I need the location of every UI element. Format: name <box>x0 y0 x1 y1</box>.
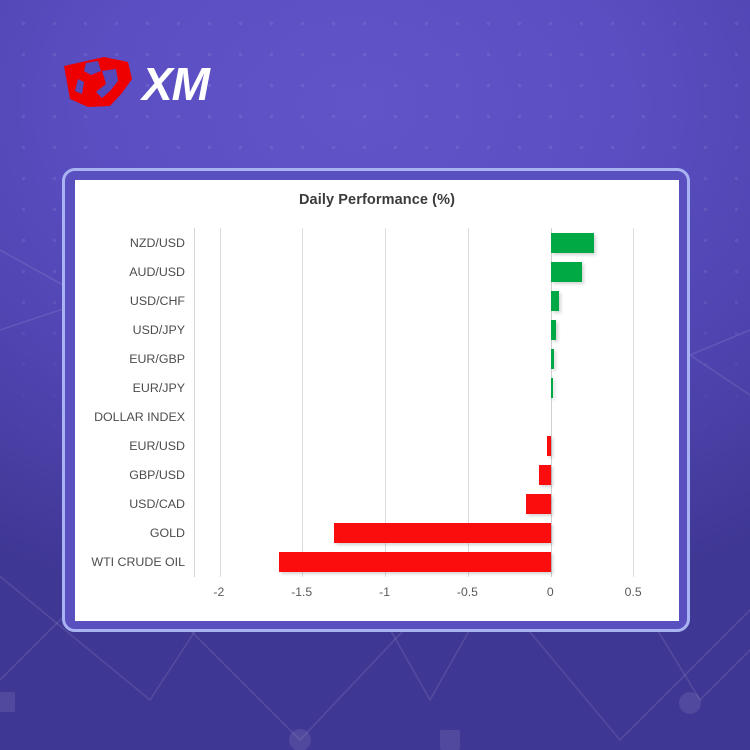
bar-row <box>195 548 663 577</box>
chart-title: Daily Performance (%) <box>75 192 679 208</box>
bar-usd-jpy <box>551 320 556 340</box>
value-axis: -2-1.5-1-0.500.5 <box>194 579 663 613</box>
bar-row <box>195 344 663 373</box>
bar-eur-jpy <box>551 378 553 398</box>
category-label: EUR/JPY <box>75 373 194 402</box>
bar-series <box>195 228 663 577</box>
value-tick-label: 0 <box>547 585 554 599</box>
bar-nzd-usd <box>551 233 594 253</box>
bar-gold <box>334 523 551 543</box>
bar-row <box>195 286 663 315</box>
value-tick-label: -1.5 <box>291 585 312 599</box>
bar-row <box>195 490 663 519</box>
bar-eur-gbp <box>551 349 554 369</box>
bar-row <box>195 257 663 286</box>
chart-surface: Daily Performance (%) NZD/USDAUD/USDUSD/… <box>75 180 679 621</box>
xm-logo: XM <box>58 49 248 115</box>
value-tick-label: 0.5 <box>625 585 642 599</box>
plot-area <box>194 228 663 577</box>
bar-gbp-usd <box>539 465 551 485</box>
category-label: USD/CHF <box>75 286 194 315</box>
category-label: USD/JPY <box>75 315 194 344</box>
category-label: AUD/USD <box>75 257 194 286</box>
chart-card: Daily Performance (%) NZD/USDAUD/USDUSD/… <box>62 168 690 632</box>
bar-row <box>195 432 663 461</box>
bar-aud-usd <box>551 262 582 282</box>
category-label: NZD/USD <box>75 228 194 257</box>
bar-usd-chf <box>551 291 559 311</box>
bar-row <box>195 228 663 257</box>
bar-row <box>195 461 663 490</box>
bar-row <box>195 402 663 431</box>
category-label: WTI CRUDE OIL <box>75 548 194 577</box>
category-label: EUR/GBP <box>75 344 194 373</box>
xm-logo-wordmark: XM <box>139 58 212 110</box>
category-label: GOLD <box>75 519 194 548</box>
bar-eur-usd <box>547 436 550 456</box>
value-tick-label: -2 <box>213 585 224 599</box>
category-axis: NZD/USDAUD/USDUSD/CHFUSD/JPYEUR/GBPEUR/J… <box>75 228 194 577</box>
bar-row <box>195 373 663 402</box>
category-label: DOLLAR INDEX <box>75 402 194 431</box>
bar-row <box>195 315 663 344</box>
category-label: USD/CAD <box>75 490 194 519</box>
bar-usd-cad <box>526 494 551 514</box>
value-tick-label: -1 <box>379 585 390 599</box>
plot-area-wrapper: NZD/USDAUD/USDUSD/CHFUSD/JPYEUR/GBPEUR/J… <box>75 228 679 613</box>
value-tick-label: -0.5 <box>457 585 478 599</box>
bar-row <box>195 519 663 548</box>
category-label: GBP/USD <box>75 461 194 490</box>
category-label: EUR/USD <box>75 432 194 461</box>
bar-wti-crude-oil <box>279 552 550 572</box>
xm-logo-bull-mark <box>64 57 132 107</box>
